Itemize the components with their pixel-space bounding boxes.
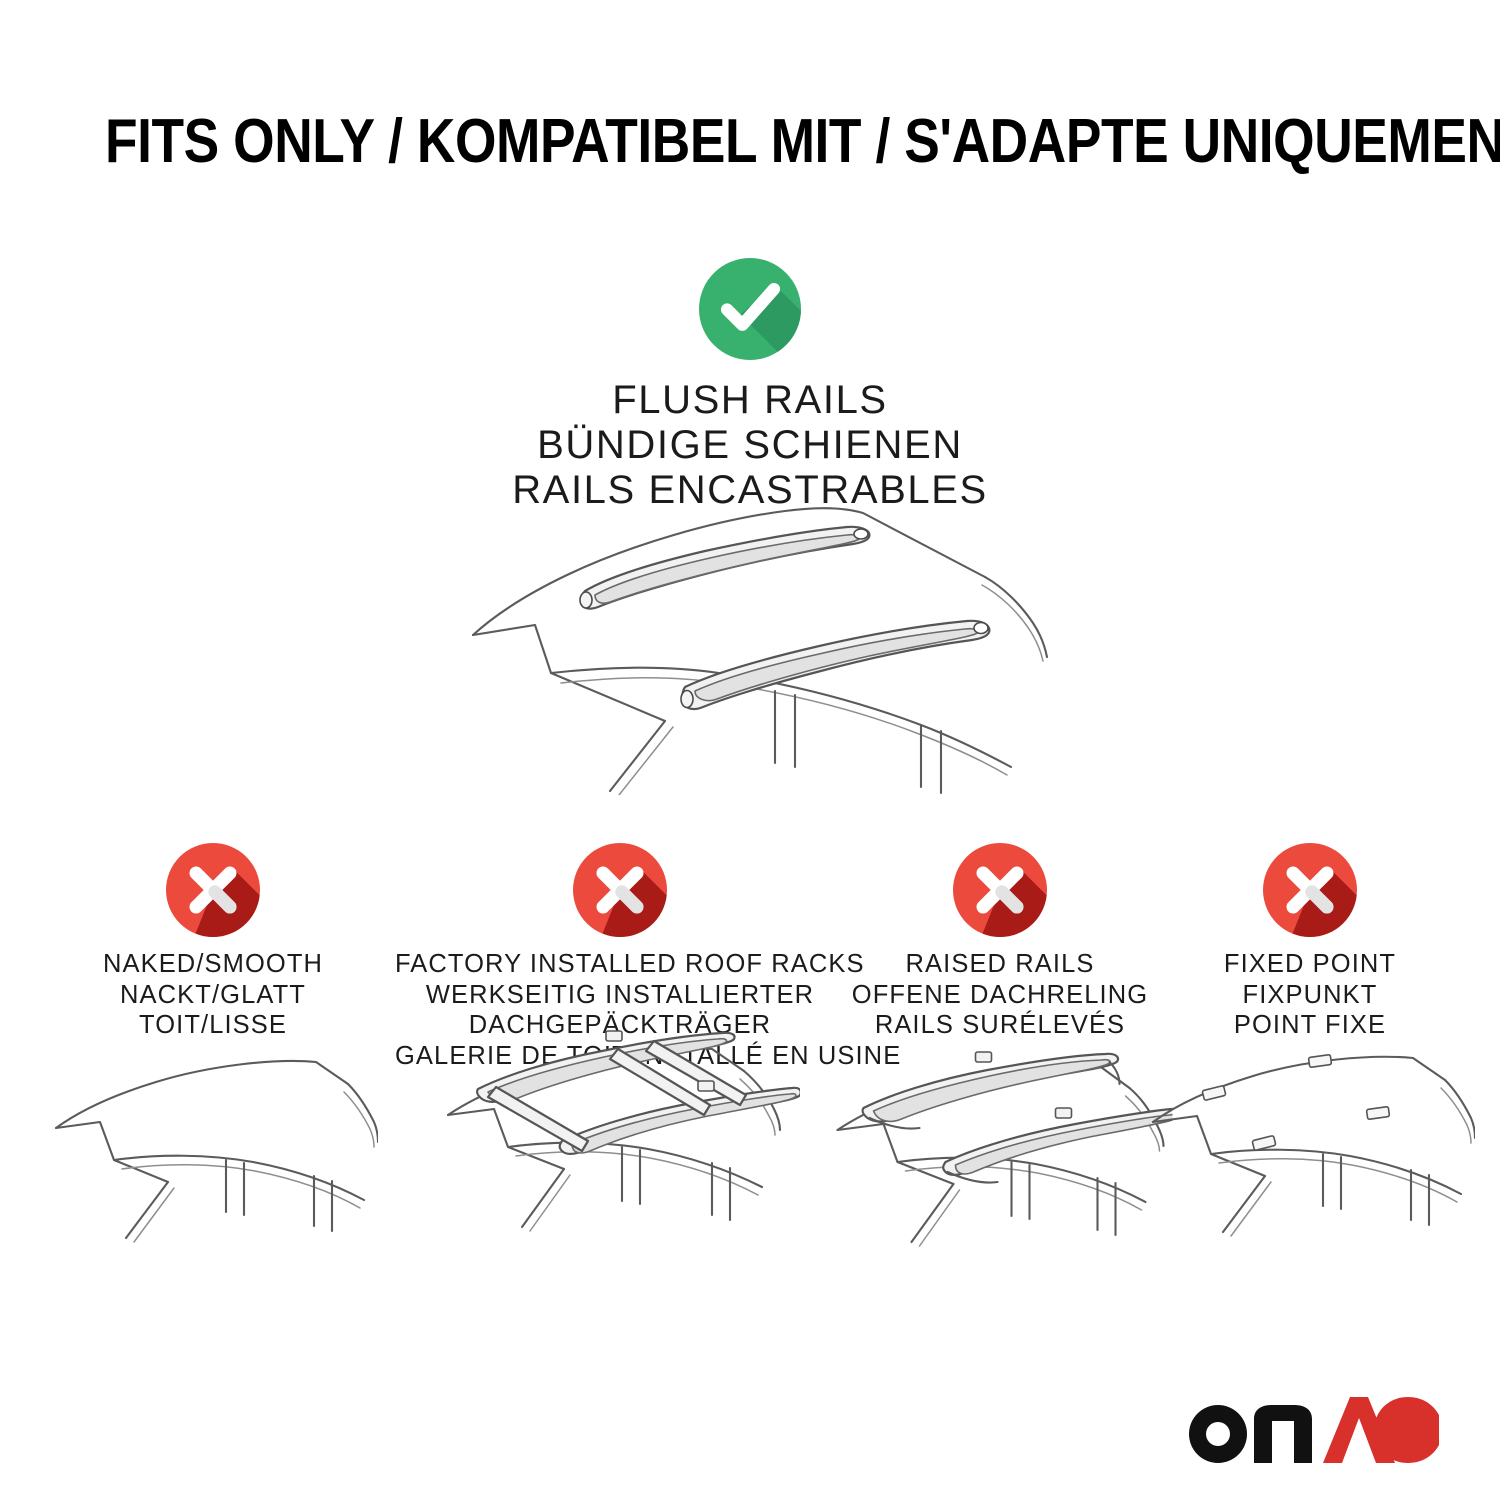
reject-label-line: OFFENE DACHRELING [840,980,1160,1011]
reject-labels: NAKED/SMOOTH NACKT/GLATT TOIT/LISSE [33,949,393,1041]
reject-label-line: WERKSEITIG INSTALLIERTER [395,980,845,1011]
reject-item-fixed-point: FIXED POINT FIXPUNKT POINT FIXE [1160,843,1460,1041]
reject-label-line: FIXPUNKT [1160,980,1460,1011]
approved-labels: FLUSH RAILS BÜNDIGE SCHIENEN RAILS ENCAS… [0,378,1500,512]
reject-label-line: NACKT/GLATT [33,980,393,1011]
red-x-circle-icon [1263,843,1357,937]
reject-label-line: TOIT/LISSE [33,1010,393,1041]
car-roof-fixed-point-illustration [1145,1050,1475,1260]
green-check-circle-icon [699,258,801,360]
page-title: FITS ONLY / KOMPATIBEL MIT / S'ADAPTE UN… [105,106,1395,177]
reject-labels: RAISED RAILS OFFENE DACHRELING RAILS SUR… [840,949,1160,1041]
reject-item-raised-rails: RAISED RAILS OFFENE DACHRELING RAILS SUR… [840,843,1160,1041]
reject-label-line: POINT FIXE [1160,1010,1460,1041]
reject-item-naked-smooth: NAKED/SMOOTH NACKT/GLATT TOIT/LISSE [33,843,393,1041]
brand-logo-omac [1182,1394,1440,1466]
reject-label-line: RAILS SURÉLEVÉS [840,1010,1160,1041]
reject-item-factory-racks: FACTORY INSTALLED ROOF RACKS WERKSEITIG … [395,843,845,1071]
red-x-circle-icon [166,843,260,937]
reject-label-line: RAISED RAILS [840,949,1160,980]
red-x-circle-icon [573,843,667,937]
car-roof-raised-rails-illustration [828,1050,1173,1265]
rejected-section: NAKED/SMOOTH NACKT/GLATT TOIT/LISSE [0,843,1500,1283]
logo-letter-m [1254,1405,1312,1463]
approved-label-de: BÜNDIGE SCHIENEN [0,423,1500,468]
red-x-circle-icon [953,843,1047,937]
reject-labels: FIXED POINT FIXPUNKT POINT FIXE [1160,949,1460,1041]
approved-section: FLUSH RAILS BÜNDIGE SCHIENEN RAILS ENCAS… [0,258,1500,512]
car-roof-flush-rails-illustration [455,495,1055,795]
car-roof-naked-illustration [48,1050,378,1260]
reject-label-line: FIXED POINT [1160,949,1460,980]
logo-letter-c [1374,1397,1439,1463]
approved-label-en: FLUSH RAILS [0,378,1500,423]
logo-letter-o [1189,1405,1247,1463]
car-roof-factory-racks-illustration [440,1023,800,1263]
reject-label-line: NAKED/SMOOTH [33,949,393,980]
reject-label-line: FACTORY INSTALLED ROOF RACKS [395,949,845,980]
